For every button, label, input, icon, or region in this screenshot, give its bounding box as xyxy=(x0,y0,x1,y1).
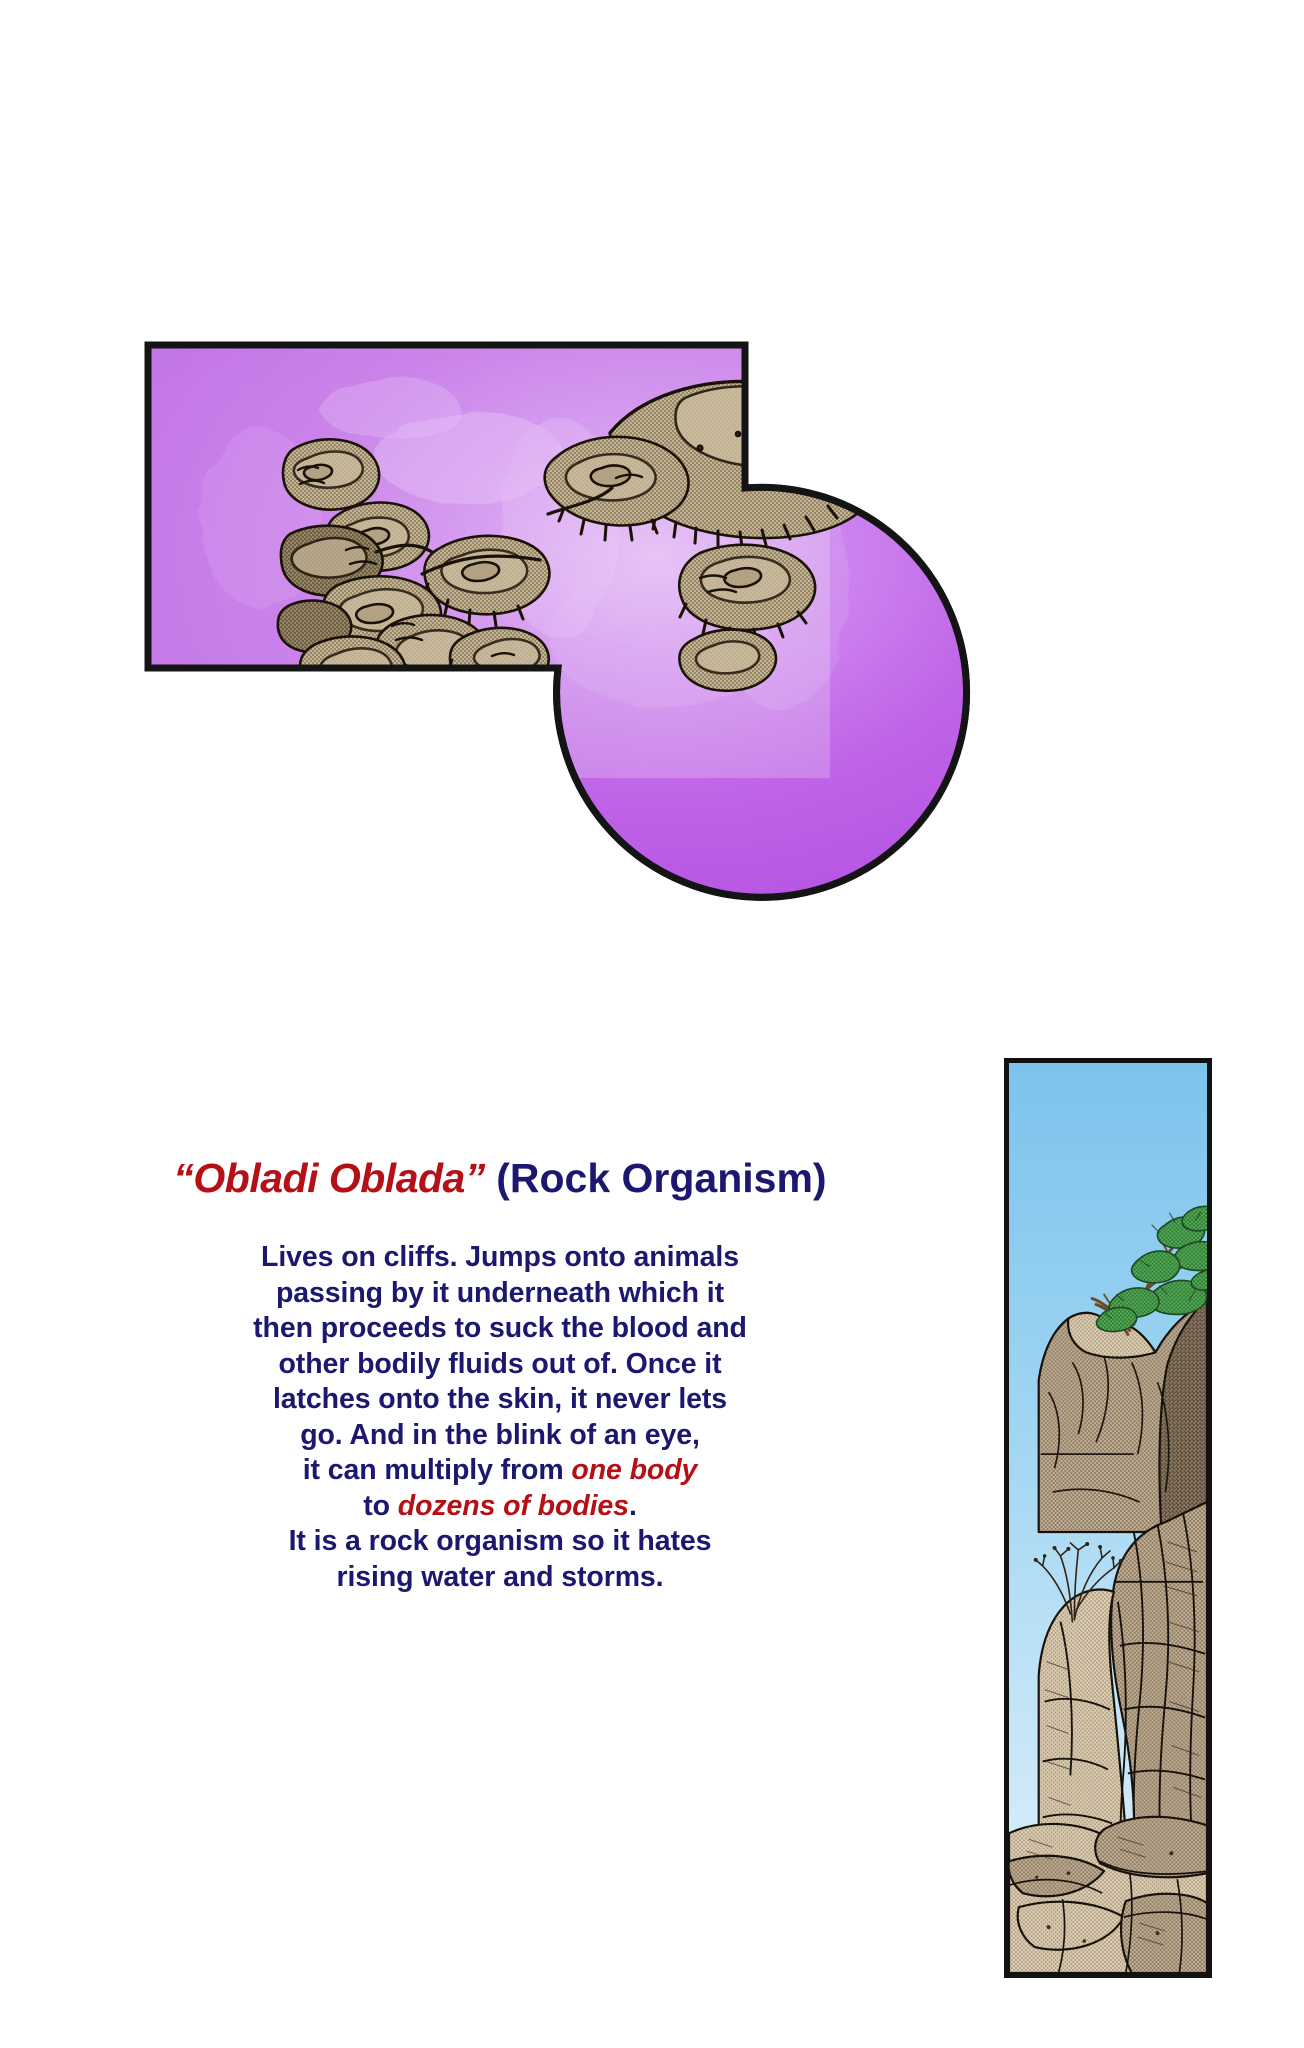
description-line: then proceeds to suck the blood and xyxy=(190,1311,810,1347)
description-text: passing by it underneath which it xyxy=(276,1277,724,1309)
description-text: latches onto the skin, it never lets xyxy=(273,1383,727,1415)
creature-name: “Obladi Oblada” xyxy=(173,1155,484,1201)
description-line: go. And in the blink of an eye, xyxy=(190,1418,810,1454)
creature-kind: (Rock Organism) xyxy=(485,1155,827,1201)
description-line: to dozens of bodies. xyxy=(190,1489,810,1525)
description-text: other bodily fluids out of. Once it xyxy=(279,1348,722,1380)
emphasis-text: dozens of bodies xyxy=(398,1490,629,1522)
description-line: Lives on cliffs. Jumps onto animals xyxy=(190,1240,810,1276)
description-text: . xyxy=(629,1490,637,1522)
description-text: rising water and storms. xyxy=(336,1561,663,1593)
description-text: It is a rock organism so it hates xyxy=(289,1525,712,1557)
page-title: “Obladi Oblada” (Rock Organism) xyxy=(0,1155,1000,1202)
description-line: It is a rock organism so it hates xyxy=(190,1524,810,1560)
description-text: go. And in the blink of an eye, xyxy=(300,1419,700,1451)
description-line: latches onto the skin, it never lets xyxy=(190,1382,810,1418)
description-line: other bodily fluids out of. Once it xyxy=(190,1347,810,1383)
rock-organism-swarm-panel xyxy=(140,338,830,778)
description-line: it can multiply from one body xyxy=(190,1453,810,1489)
description-line: passing by it underneath which it xyxy=(190,1276,810,1312)
creature-description: Lives on cliffs. Jumps onto animalspassi… xyxy=(190,1240,810,1595)
cliff-habitat-panel xyxy=(1004,1058,1212,1978)
description-text: to xyxy=(363,1490,398,1522)
emphasis-text: one body xyxy=(571,1454,697,1486)
description-text: then proceeds to suck the blood and xyxy=(253,1312,747,1344)
description-text: it can multiply from xyxy=(303,1454,572,1486)
comic-page: “Obladi Oblada” (Rock Organism) Lives on… xyxy=(0,0,1304,2048)
description-text: Lives on cliffs. Jumps onto animals xyxy=(261,1241,739,1273)
description-line: rising water and storms. xyxy=(190,1560,810,1596)
